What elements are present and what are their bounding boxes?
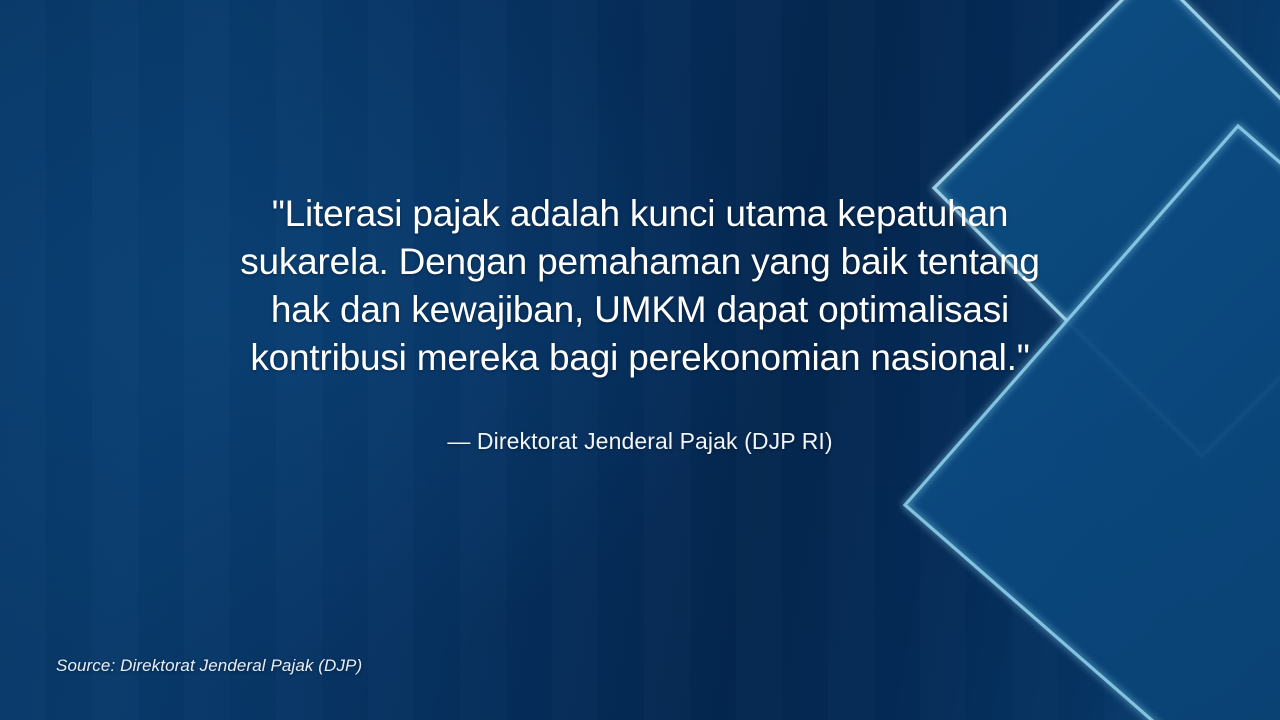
quote-block: "Literasi pajak adalah kunci utama kepat… — [150, 190, 1130, 456]
source-note: Source: Direktorat Jenderal Pajak (DJP) — [56, 656, 362, 676]
quote-text: "Literasi pajak adalah kunci utama kepat… — [150, 190, 1130, 382]
slide-content: "Literasi pajak adalah kunci utama kepat… — [0, 0, 1280, 720]
quote-attribution: — Direktorat Jenderal Pajak (DJP RI) — [150, 382, 1130, 456]
quote-slide: "Literasi pajak adalah kunci utama kepat… — [0, 0, 1280, 720]
